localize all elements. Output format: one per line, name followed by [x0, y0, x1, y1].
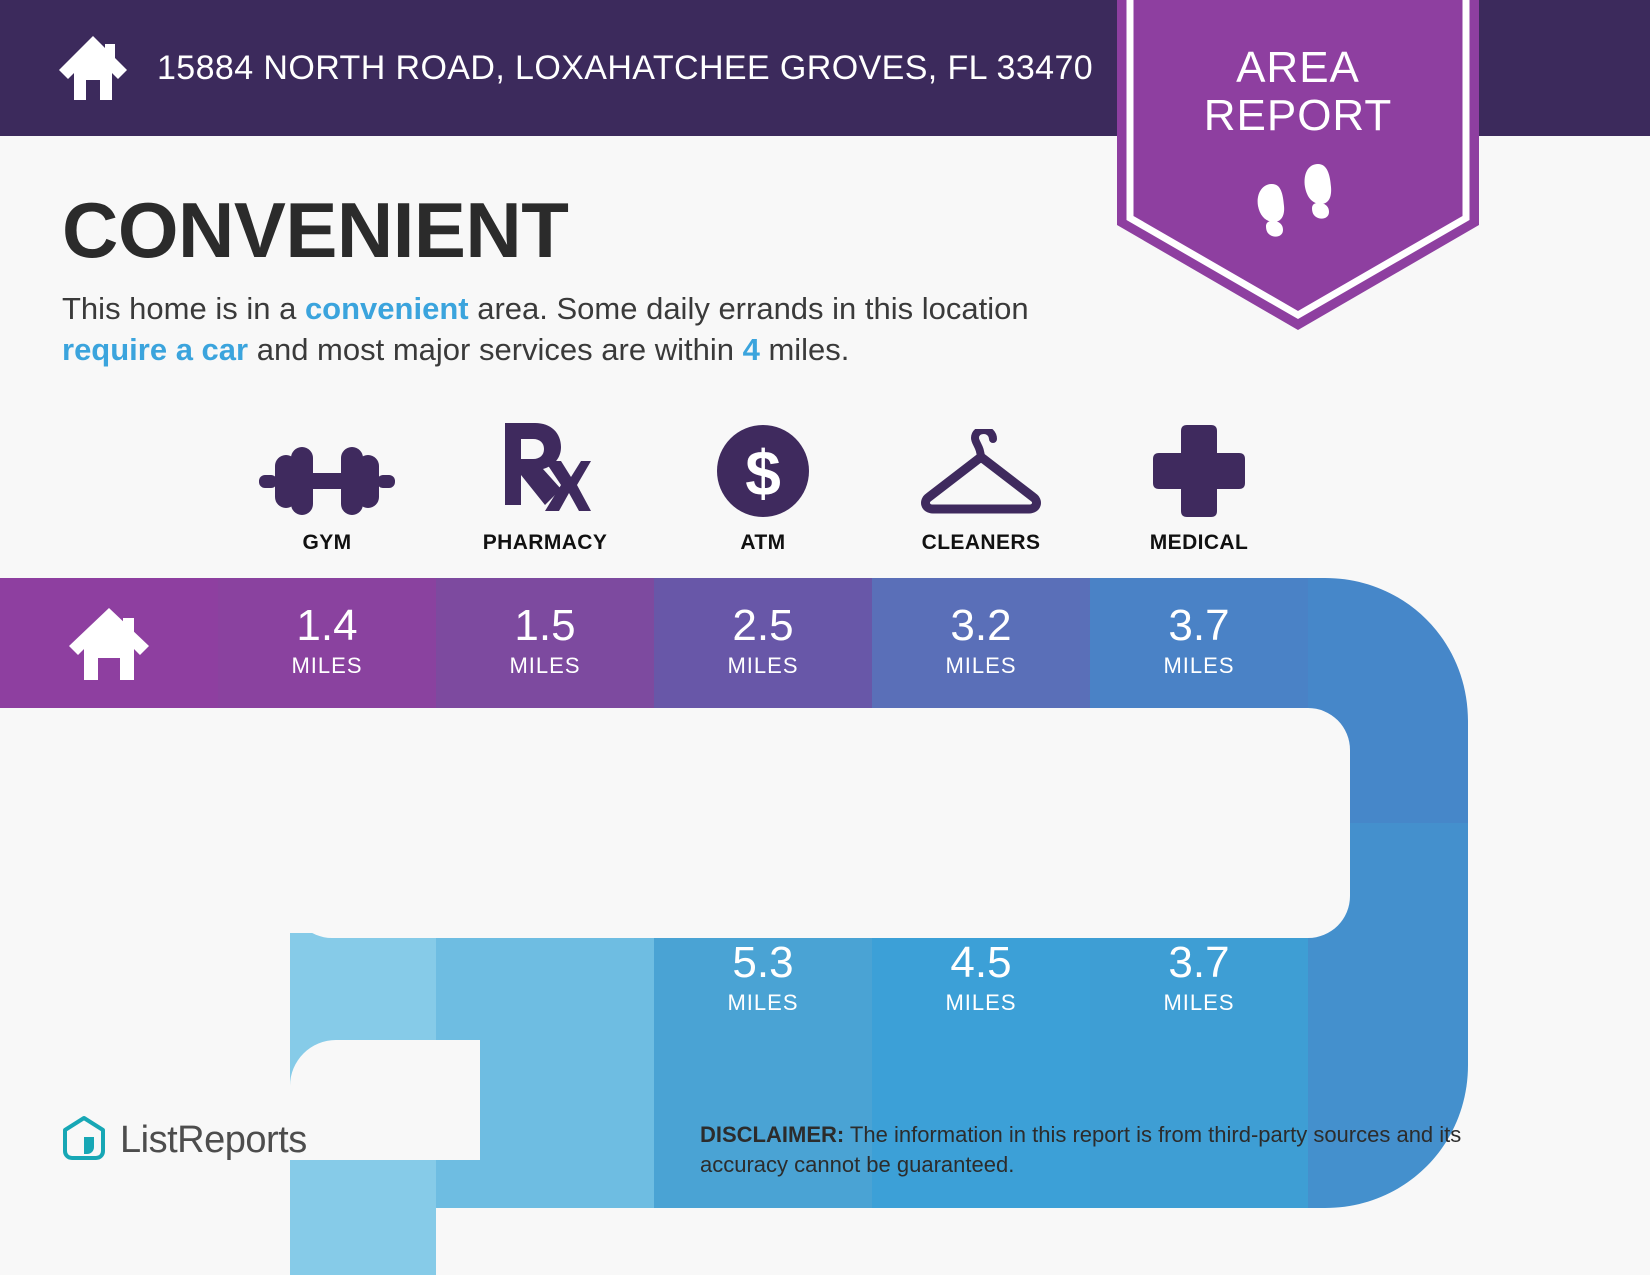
listreports-logo[interactable]: ListReports	[62, 1115, 307, 1166]
segment-medical	[1090, 578, 1308, 708]
badge-line-1: AREA	[1117, 44, 1479, 92]
subtitle-highlight-convenient: convenient	[305, 291, 469, 326]
page-title: CONVENIENT	[62, 185, 568, 276]
subtitle-highlight-require-car: require a car	[62, 332, 248, 367]
listreports-house-icon	[62, 1115, 106, 1166]
subtitle-part-1: This home is in a	[62, 291, 305, 326]
disclaimer-label: DISCLAIMER:	[700, 1122, 844, 1147]
segment-atm	[654, 578, 872, 708]
subtitle-highlight-miles: 4	[743, 332, 760, 367]
snake-tail-notch	[290, 1040, 480, 1160]
dollar-circle-icon: $	[717, 425, 809, 517]
rx-icon	[499, 425, 591, 517]
segment-cleaners	[872, 578, 1090, 708]
badge-title: AREA REPORT	[1117, 44, 1479, 140]
badge-line-2: REPORT	[1117, 92, 1479, 140]
subtitle-part-4: miles.	[760, 332, 850, 367]
subtitle-part-2: area. Some daily errands in this locatio…	[469, 291, 1029, 326]
footprints-icon	[1250, 160, 1346, 240]
segment-pharmacy	[436, 578, 654, 708]
icon-cell-atm[interactable]: $ ATM	[654, 425, 872, 555]
dumbbell-icon	[259, 425, 395, 517]
icon-cell-cleaners[interactable]: CLEANERS	[872, 425, 1090, 555]
hanger-icon	[917, 425, 1045, 517]
icon-cell-gym[interactable]: GYM	[218, 425, 436, 555]
property-address: 15884 NORTH ROAD, LOXAHATCHEE GROVES, FL…	[157, 49, 1093, 88]
segment-gym	[218, 578, 436, 708]
icon-label-medical: MEDICAL	[1150, 531, 1248, 555]
svg-text:$: $	[745, 437, 781, 509]
icon-row-primary: GYM PHARMACY $ ATM	[218, 425, 1308, 555]
icon-label-cleaners: CLEANERS	[922, 531, 1041, 555]
icon-cell-medical[interactable]: MEDICAL	[1090, 425, 1308, 555]
page-subtitle: This home is in a convenient area. Some …	[62, 288, 1082, 370]
segment-turn-top	[1308, 578, 1508, 708]
disclaimer: DISCLAIMER: The information in this repo…	[700, 1120, 1520, 1180]
home-icon	[55, 30, 131, 106]
icon-label-pharmacy: PHARMACY	[483, 531, 608, 555]
icon-cell-pharmacy[interactable]: PHARMACY	[436, 425, 654, 555]
snake-inner-notch	[290, 708, 1350, 938]
area-report-page: 15884 NORTH ROAD, LOXAHATCHEE GROVES, FL…	[0, 0, 1650, 1275]
subtitle-part-3: and most major services are within	[248, 332, 742, 367]
listreports-wordmark: ListReports	[120, 1119, 307, 1162]
icon-label-gym: GYM	[302, 531, 351, 555]
icon-label-atm: ATM	[740, 531, 785, 555]
medical-cross-icon	[1153, 425, 1245, 517]
area-report-badge: AREA REPORT	[1117, 0, 1479, 330]
home-marker	[0, 578, 218, 708]
